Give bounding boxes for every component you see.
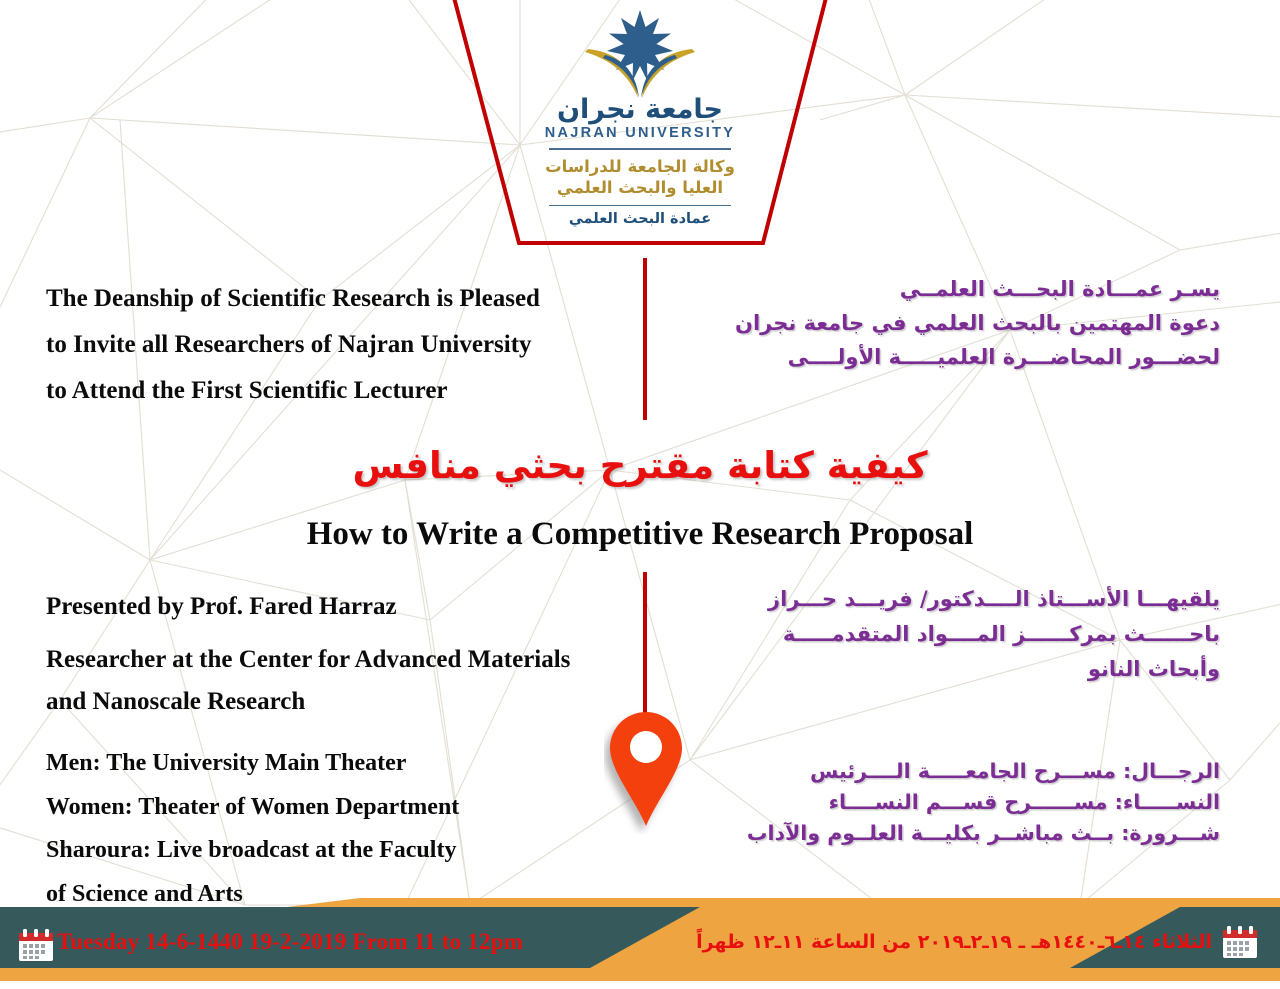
presenter-ar-line-2: باحــــــث بمركــــــز المــــواد المتقد… xyxy=(675,617,1220,652)
venue-ar-line-2: النســـــاء: مســــــرح قســـم النســــا… xyxy=(675,787,1220,818)
invitation-english-block: The Deanship of Scientific Research is P… xyxy=(46,276,636,414)
invitation-arabic-block: يسـر عمـــادة البحـــث العلمــي دعوة الم… xyxy=(675,272,1220,374)
invitation-en-line-3: to Attend the First Scientific Lecturer xyxy=(46,368,636,414)
logo-agency-line-1: وكالة الجامعة للدراسات xyxy=(490,156,790,177)
poster-root: جامعة نجران NAJRAN UNIVERSITY وكالة الجا… xyxy=(0,0,1280,989)
calendar-icon-right xyxy=(1222,925,1258,959)
venue-en-line-3: Sharoura: Live broadcast at the Faculty xyxy=(46,829,636,873)
vertical-divider-top xyxy=(643,258,647,420)
venue-en-line-1: Men: The University Main Theater xyxy=(46,742,636,786)
logo-arabic-name: جامعة نجران xyxy=(490,96,790,124)
presenter-en-line-1: Presented by Prof. Fared Harraz xyxy=(46,586,636,629)
footer-date-english: Tuesday 14-6-1440 19-2-2019 From 11 to 1… xyxy=(57,929,523,955)
logo-deanship-line: عمادة البحث العلمي xyxy=(490,211,790,227)
presenter-arabic-block: يلقيهـــا الأســـتاذ الــــدكتور/ فريـــ… xyxy=(675,582,1220,687)
presenter-en-line-2: Researcher at the Center for Advanced Ma… xyxy=(46,639,636,682)
presenter-ar-line-1: يلقيهـــا الأســـتاذ الــــدكتور/ فريـــ… xyxy=(675,582,1220,617)
lecture-title-english: How to Write a Competitive Research Prop… xyxy=(0,516,1280,553)
calendar-icon-left xyxy=(18,928,54,962)
invitation-ar-line-2: دعوة المهتمين بالبحث العلمي في جامعة نجر… xyxy=(675,306,1220,340)
venue-ar-line-3: شـــرورة: بــث مباشــر بكليـــة العلــوم… xyxy=(675,818,1220,849)
vertical-divider-middle xyxy=(643,572,647,727)
logo-agency-line-2: العليا والبحث العلمي xyxy=(490,177,790,198)
presenter-en-line-3: and Nanoscale Research xyxy=(46,681,636,724)
presenter-ar-line-3: وأبحاث النانو xyxy=(675,652,1220,687)
venue-en-line-2: Women: Theater of Women Department xyxy=(46,786,636,830)
venue-ar-line-1: الرجـــال: مســـرح الجامعـــــة الــــرئ… xyxy=(675,756,1220,787)
eight-point-star-icon xyxy=(607,10,673,81)
invitation-en-line-1: The Deanship of Scientific Research is P… xyxy=(46,276,636,322)
map-pin-icon xyxy=(604,706,688,834)
university-logo: جامعة نجران NAJRAN UNIVERSITY وكالة الجا… xyxy=(490,8,790,227)
logo-divider-rule-bottom xyxy=(549,205,731,207)
footer-date-arabic: الثلاثاء ١٤ـ٦ـ١٤٤٠هـ ـ ١٩ـ٢ـ٢٠١٩ من السا… xyxy=(696,931,1212,953)
invitation-en-line-2: to Invite all Researchers of Najran Univ… xyxy=(46,322,636,368)
venue-arabic-block: الرجـــال: مســـرح الجامعـــــة الــــرئ… xyxy=(675,756,1220,849)
logo-english-name: NAJRAN UNIVERSITY xyxy=(490,125,790,141)
logo-divider-rule-top xyxy=(549,148,731,150)
logo-mark-icon xyxy=(555,8,725,100)
invitation-ar-line-1: يسـر عمـــادة البحـــث العلمــي xyxy=(675,272,1220,306)
invitation-ar-line-3: لحضـــور المحاضـــرة العلميـــــة الأولـ… xyxy=(675,340,1220,374)
presenter-english-block: Presented by Prof. Fared Harraz Research… xyxy=(46,586,636,724)
lecture-title-arabic: كيفية كتابة مقترح بحثي منافس xyxy=(0,444,1280,487)
